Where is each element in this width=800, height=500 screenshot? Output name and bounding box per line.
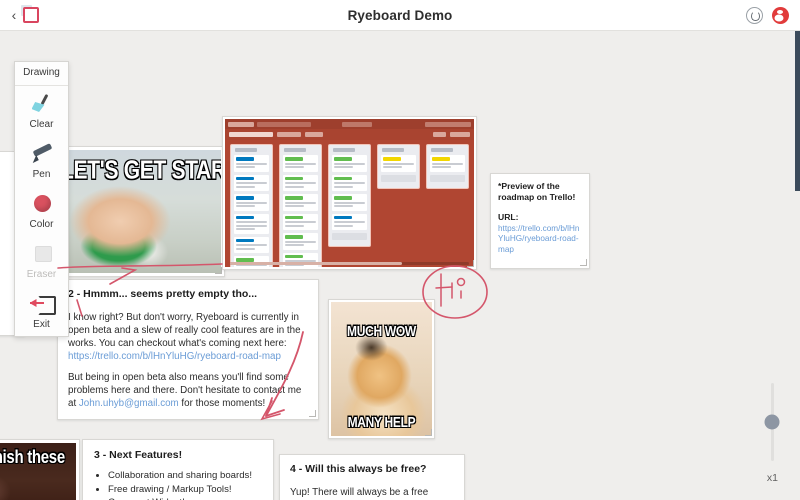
top-bar: ‹ Ryeboard Demo xyxy=(0,0,800,31)
meme-image: LET'S GET STARTED xyxy=(61,150,221,273)
trello-window-bar xyxy=(225,119,474,129)
image-widget-doge[interactable]: MUCH WOW MANY HELP xyxy=(328,299,435,439)
tool-eraser: Eraser xyxy=(15,236,68,286)
note-title: 2 - Hmmm... seems pretty empty tho... xyxy=(68,288,308,300)
hidden-line: e bo xyxy=(0,196,15,214)
trello-lists xyxy=(225,140,474,267)
sync-icon[interactable] xyxy=(746,7,763,24)
meme-top-text: LET'S GET STARTED xyxy=(61,156,221,186)
list-item: Comment Widget! xyxy=(108,496,262,500)
pen-icon xyxy=(29,143,55,165)
zoom-control[interactable]: x1 xyxy=(767,383,778,484)
zoom-slider-thumb[interactable] xyxy=(765,415,780,430)
tool-label: Exit xyxy=(33,319,50,330)
toolbar-title: Drawing xyxy=(15,62,68,86)
tool-label: Eraser xyxy=(27,269,56,280)
hidden-line: ase xyxy=(0,178,15,196)
hidden-line: aboa xyxy=(0,251,15,269)
resize-handle[interactable] xyxy=(467,260,474,267)
tool-exit[interactable]: Exit xyxy=(15,286,68,336)
resize-handle[interactable] xyxy=(309,410,316,417)
vertical-scrollbar[interactable] xyxy=(795,31,800,191)
tool-pen[interactable]: Pen xyxy=(15,136,68,186)
trello-list xyxy=(377,144,420,189)
trello-list xyxy=(279,144,322,267)
ryeboard-app: ‹ Ryeboard Demo ss, ase e bo e fr get. a… xyxy=(0,0,800,500)
tool-clear[interactable]: Clear xyxy=(15,86,68,136)
image-widget-success-kid[interactable]: LET'S GET STARTED xyxy=(57,146,225,277)
meme-top-text: finish these xyxy=(0,447,76,467)
trello-list xyxy=(328,144,371,247)
top-bar-actions xyxy=(746,7,789,24)
page-title: Ryeboard Demo xyxy=(0,8,800,23)
note-url-label: URL: xyxy=(498,212,582,223)
meme-image: finish these xyxy=(0,443,76,500)
list-item: Collaboration and sharing boards! xyxy=(108,469,262,483)
note-title: *Preview of the roadmap on Trello! xyxy=(498,181,582,203)
note-paragraph: But being in open beta also means you'll… xyxy=(68,371,308,410)
note-url-link[interactable]: https://trello.com/b/lHnYluHG/ryeboard-r… xyxy=(498,224,582,256)
card-hidden-body: ss, ase e bo e fr get. aboa little xyxy=(0,160,15,288)
list-item: Free drawing / Markup Tools! xyxy=(108,483,262,497)
eraser-icon xyxy=(29,243,55,265)
broom-icon xyxy=(29,93,55,115)
note-title: 3 - Next Features! xyxy=(94,449,262,461)
trello-list xyxy=(230,144,273,267)
trello-list xyxy=(426,144,469,189)
meme-top-text: MUCH WOW xyxy=(331,323,432,340)
note-card-3[interactable]: 3 - Next Features! Collaboration and sha… xyxy=(82,439,274,500)
trello-board-header xyxy=(225,129,474,140)
note-card-4[interactable]: 4 - Will this always be free? Yup! There… xyxy=(279,454,465,500)
board-canvas[interactable]: ss, ase e bo e fr get. aboa little LET'S… xyxy=(0,31,800,500)
zoom-slider-track[interactable] xyxy=(771,383,774,461)
note-text: I know right? But don't worry, Ryeboard … xyxy=(68,312,301,349)
drawing-toolbar[interactable]: Drawing Clear Pen Color Eraser Exit xyxy=(14,61,69,337)
tool-label: Pen xyxy=(33,169,51,180)
chevron-left-icon[interactable]: ‹ xyxy=(8,6,20,24)
note-text: for those moments! xyxy=(179,398,266,409)
note-card-trello-preview[interactable]: *Preview of the roadmap on Trello! URL: … xyxy=(490,173,590,269)
note-card-2[interactable]: 2 - Hmmm... seems pretty empty tho... I … xyxy=(57,279,319,420)
resize-handle[interactable] xyxy=(580,259,587,266)
note-paragraph: I know right? But don't worry, Ryeboard … xyxy=(68,311,308,363)
zoom-level-label: x1 xyxy=(767,472,778,484)
tool-label: Color xyxy=(30,219,54,230)
next-features-list: Collaboration and sharing boards! Free d… xyxy=(108,469,262,500)
note-link[interactable]: https://trello.com/b/lHnYluHG/ryeboard-r… xyxy=(68,351,281,362)
color-swatch-icon xyxy=(29,193,55,215)
board-icon[interactable] xyxy=(23,7,39,23)
note-body: I know right? But don't worry, Ryeboard … xyxy=(68,311,308,410)
note-email-link[interactable]: John.uhyb@gmail.com xyxy=(79,398,179,409)
note-body: Yup! There will always be a free version… xyxy=(290,486,454,500)
exit-icon xyxy=(29,293,55,315)
resize-handle[interactable] xyxy=(215,267,222,274)
resize-handle[interactable] xyxy=(425,429,432,436)
trello-horizontal-scrollbar[interactable] xyxy=(230,262,469,265)
image-widget-finish-these[interactable]: finish these xyxy=(0,439,80,500)
note-title: 4 - Will this always be free? xyxy=(290,463,454,475)
image-widget-trello-screenshot[interactable] xyxy=(222,116,477,270)
hidden-line: get. xyxy=(0,233,15,251)
meme-image: MUCH WOW MANY HELP xyxy=(331,302,432,436)
meme-bottom-text: MANY HELP xyxy=(331,414,432,431)
user-avatar-icon[interactable] xyxy=(772,7,789,24)
tool-color[interactable]: Color xyxy=(15,186,68,236)
hidden-line: ss, xyxy=(0,160,15,178)
hidden-line: e fr xyxy=(0,215,15,233)
tool-label: Clear xyxy=(30,119,54,130)
hidden-line: little xyxy=(0,269,15,287)
trello-screenshot xyxy=(225,119,474,267)
